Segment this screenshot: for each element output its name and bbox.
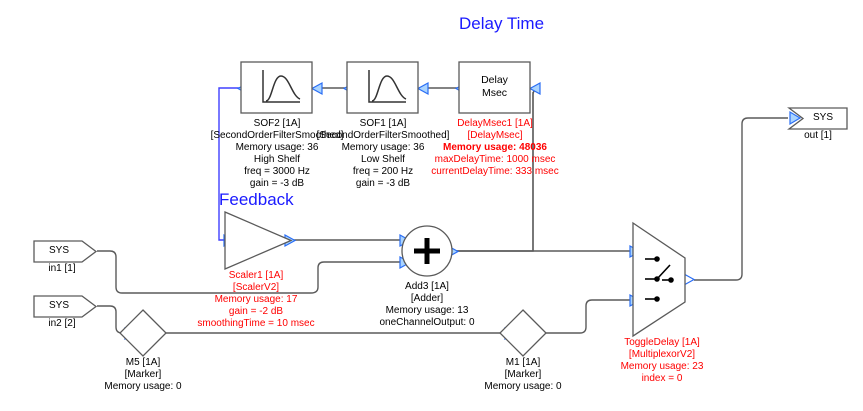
label-line: Memory usage: 0 xyxy=(458,381,588,393)
annotation-feedback: Feedback xyxy=(219,190,294,210)
label-line: Scaler1 [1A] xyxy=(166,270,346,282)
sys-in1-title: SYS xyxy=(34,245,84,257)
m5-label: M5 [1A][Marker]Memory usage: 0 xyxy=(78,357,208,393)
label-line: Memory usage: 17 xyxy=(166,294,346,306)
label-line: oneChannelOutput: 0 xyxy=(357,317,497,329)
scaler1-label: Scaler1 [1A][ScalerV2]Memory usage: 17ga… xyxy=(166,270,346,330)
label-line: M5 [1A] xyxy=(78,357,208,369)
label-line: M1 [1A] xyxy=(458,357,588,369)
label-line: [MultiplexorV2] xyxy=(597,349,727,361)
label-line: Memory usage: 48036 xyxy=(395,142,595,154)
sof1-block[interactable] xyxy=(347,62,418,113)
label-line: Memory usage: 0 xyxy=(78,381,208,393)
sys-out-title: SYS xyxy=(800,112,846,124)
label-line: [Adder] xyxy=(357,293,497,305)
annotation-delay-time: Delay Time xyxy=(459,14,544,34)
label-line: ToggleDelay [1A] xyxy=(597,337,727,349)
m5-marker-block[interactable] xyxy=(120,310,166,356)
label-line: [Marker] xyxy=(78,369,208,381)
add3-label: Add3 [1A][Adder]Memory usage: 13oneChann… xyxy=(357,281,497,329)
label-line: [DelayMsec] xyxy=(395,130,595,142)
label-line: index = 0 xyxy=(597,373,727,385)
label-line: currentDelayTime: 333 msec xyxy=(395,166,595,178)
label-line: DelayMsec1 [1A] xyxy=(395,118,595,130)
sys-in2-title: SYS xyxy=(34,300,84,312)
signal-flow-diagram-canvas: .w{fill:none;stroke:#5a5a5a;stroke-width… xyxy=(0,0,863,411)
label-line: gain = -2 dB xyxy=(166,306,346,318)
sys-in2-caption: in2 [2] xyxy=(34,318,90,330)
label-line: maxDelayTime: 1000 msec xyxy=(395,154,595,166)
label-line: [ScalerV2] xyxy=(166,282,346,294)
label-line: smoothingTime = 10 msec xyxy=(166,318,346,330)
label-line: Add3 [1A] xyxy=(357,281,497,293)
sys-in1-caption: in1 [1] xyxy=(34,263,90,275)
label-line: Memory usage: 13 xyxy=(357,305,497,317)
sys-out-caption: out [1] xyxy=(789,130,847,142)
label-line: Memory usage: 23 xyxy=(597,361,727,373)
m1-label: M1 [1A][Marker]Memory usage: 0 xyxy=(458,357,588,393)
sof2-block[interactable] xyxy=(241,62,312,113)
delaymsec-block-text: Delay Msec xyxy=(459,74,530,100)
block-shape-layer: .shape{fill:#ffffff;stroke:#5a5a5a;strok… xyxy=(0,0,863,411)
m1-marker-block[interactable] xyxy=(500,310,546,356)
toggledelay-label: ToggleDelay [1A][MultiplexorV2]Memory us… xyxy=(597,337,727,385)
label-line: gain = -3 dB xyxy=(283,178,483,190)
scaler1-block[interactable] xyxy=(225,212,291,269)
delaymsec-label: DelayMsec1 [1A][DelayMsec]Memory usage: … xyxy=(395,118,595,178)
label-line: [Marker] xyxy=(458,369,588,381)
